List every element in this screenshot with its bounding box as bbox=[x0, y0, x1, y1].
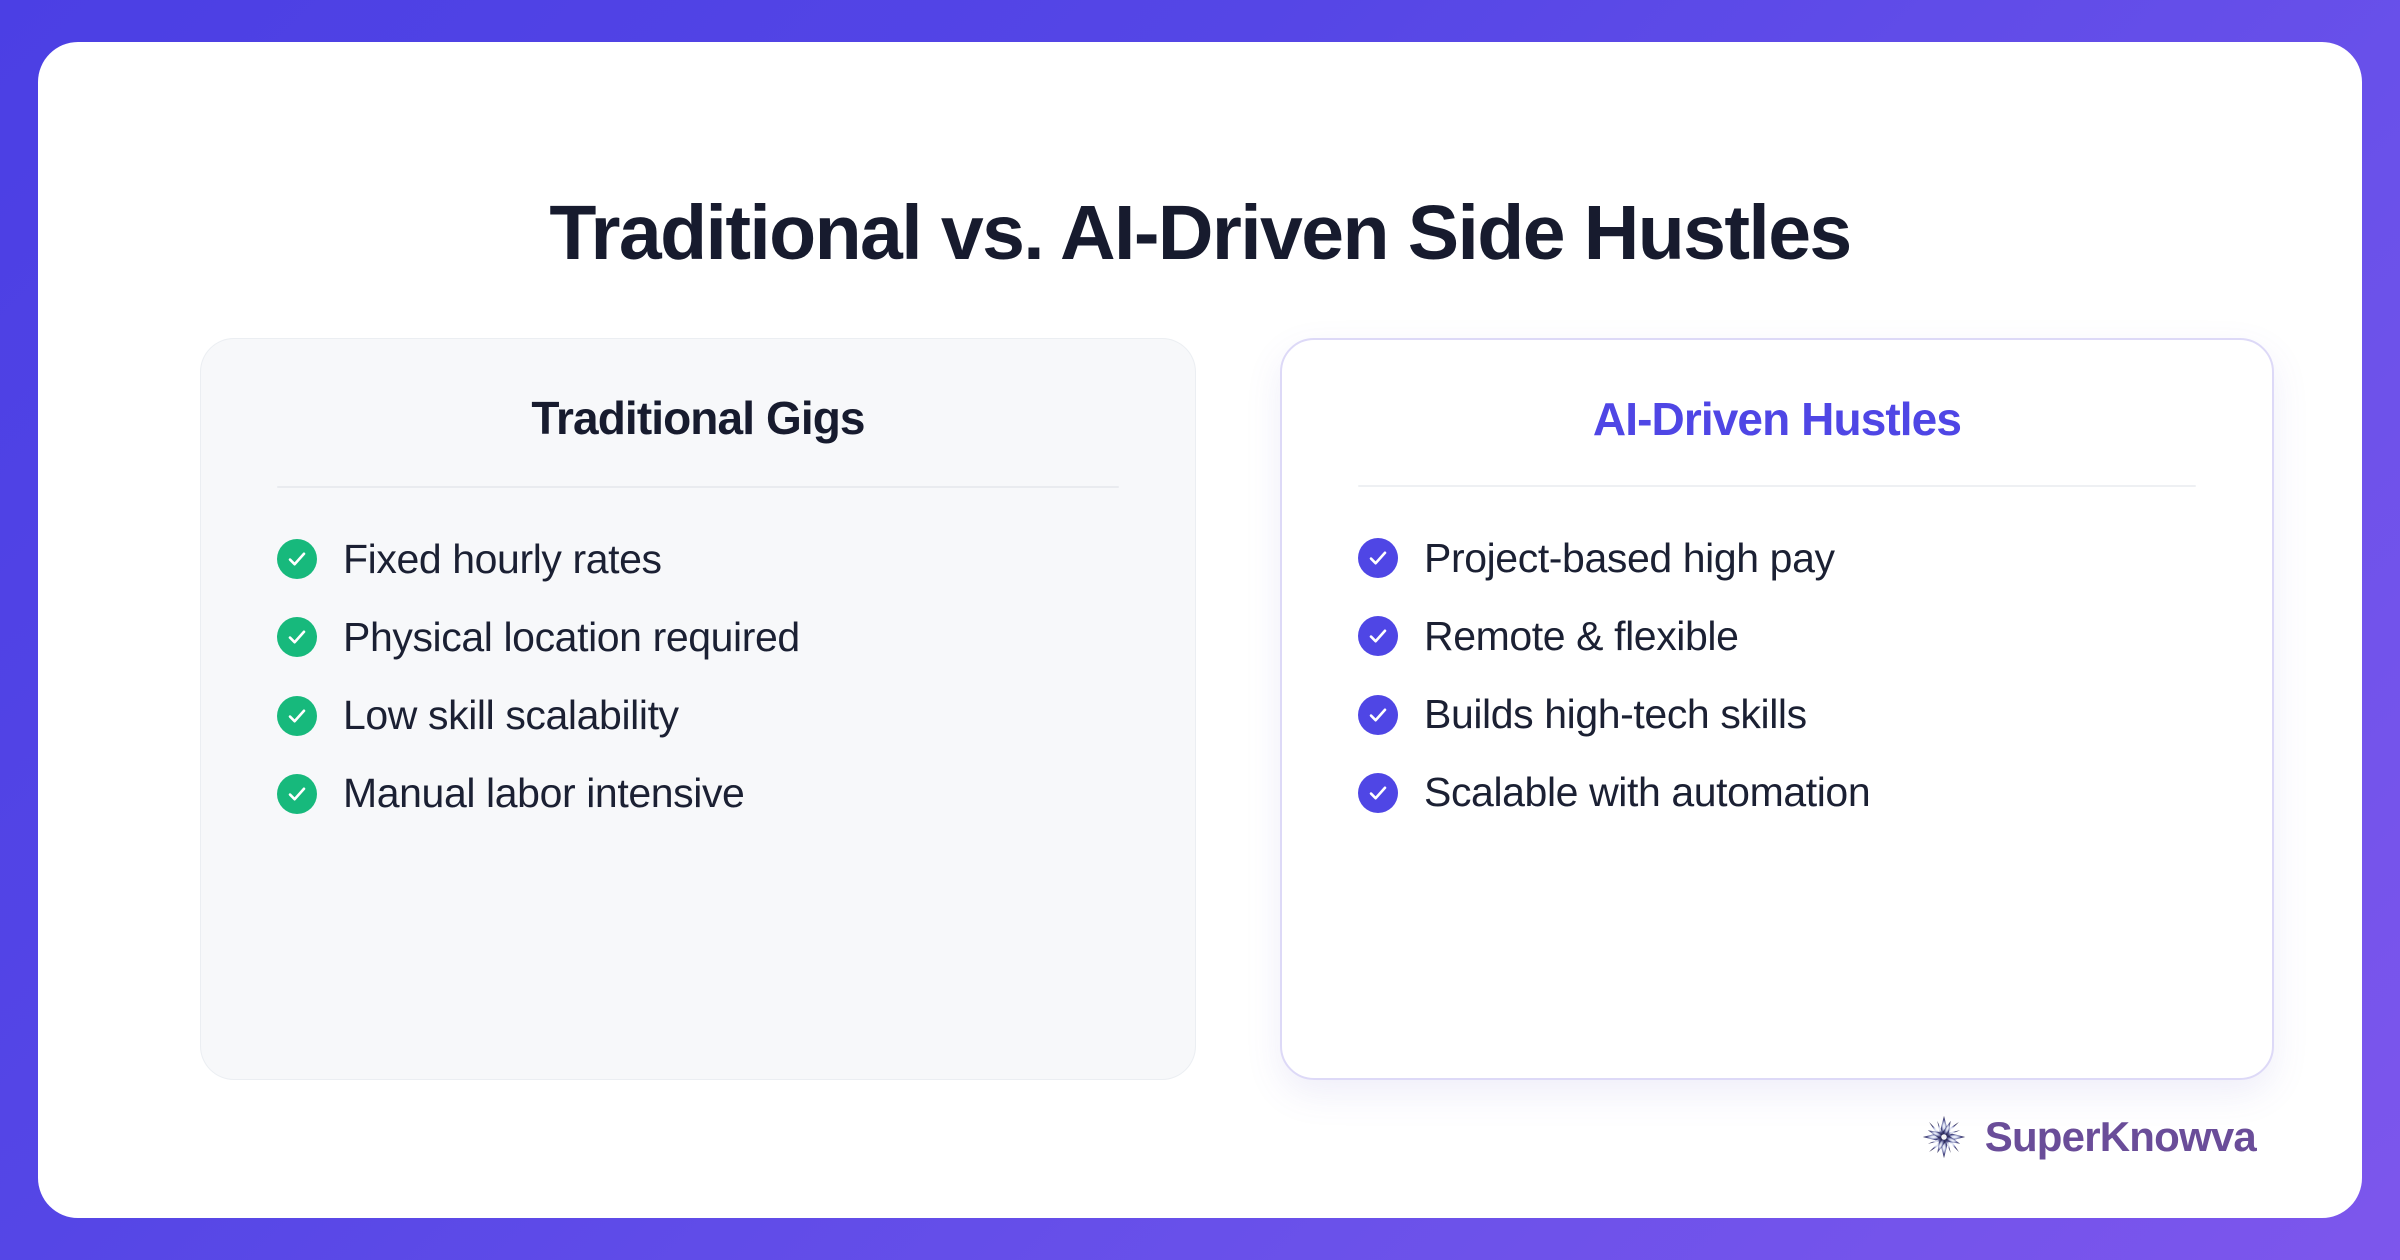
check-circle-icon bbox=[1358, 538, 1398, 578]
list-item-label: Scalable with automation bbox=[1424, 767, 1870, 818]
list-item: Low skill scalability bbox=[277, 690, 1119, 741]
starburst-logo-icon bbox=[1921, 1114, 1967, 1160]
comparison-columns: Traditional Gigs Fixed hourly rates bbox=[38, 42, 2362, 1218]
list-item-label: Manual labor intensive bbox=[343, 768, 744, 819]
comparison-card-ai-driven: AI-Driven Hustles Project-based high pay bbox=[1280, 338, 2274, 1080]
check-circle-icon bbox=[277, 617, 317, 657]
list-item: Scalable with automation bbox=[1358, 767, 2196, 818]
card-divider bbox=[277, 486, 1119, 488]
list-item: Manual labor intensive bbox=[277, 768, 1119, 819]
list-item-label: Low skill scalability bbox=[343, 690, 679, 741]
list-item: Fixed hourly rates bbox=[277, 534, 1119, 585]
feature-list-traditional: Fixed hourly rates Physical location req… bbox=[277, 534, 1119, 820]
check-circle-icon bbox=[277, 539, 317, 579]
check-circle-icon bbox=[1358, 773, 1398, 813]
list-item-label: Physical location required bbox=[343, 612, 800, 663]
list-item-label: Project-based high pay bbox=[1424, 533, 1835, 584]
list-item-label: Remote & flexible bbox=[1424, 611, 1739, 662]
list-item-label: Builds high-tech skills bbox=[1424, 689, 1807, 740]
list-item: Project-based high pay bbox=[1358, 533, 2196, 584]
check-circle-icon bbox=[277, 774, 317, 814]
feature-list-ai-driven: Project-based high pay Remote & flexible bbox=[1358, 533, 2196, 819]
card-divider bbox=[1358, 485, 2196, 487]
list-item: Physical location required bbox=[277, 612, 1119, 663]
card-title-ai-driven: AI-Driven Hustles bbox=[1358, 394, 2196, 445]
content-panel: Traditional vs. AI-Driven Side Hustles T… bbox=[38, 42, 2362, 1218]
card-title-traditional: Traditional Gigs bbox=[277, 393, 1119, 444]
list-item-label: Fixed hourly rates bbox=[343, 534, 662, 585]
check-circle-icon bbox=[1358, 616, 1398, 656]
list-item: Remote & flexible bbox=[1358, 611, 2196, 662]
list-item: Builds high-tech skills bbox=[1358, 689, 2196, 740]
slide-canvas: Traditional vs. AI-Driven Side Hustles T… bbox=[0, 0, 2400, 1260]
brand-logo: SuperKnowva bbox=[1921, 1114, 2256, 1160]
brand-name: SuperKnowva bbox=[1985, 1116, 2256, 1158]
check-circle-icon bbox=[277, 696, 317, 736]
comparison-card-traditional: Traditional Gigs Fixed hourly rates bbox=[200, 338, 1196, 1080]
check-circle-icon bbox=[1358, 695, 1398, 735]
